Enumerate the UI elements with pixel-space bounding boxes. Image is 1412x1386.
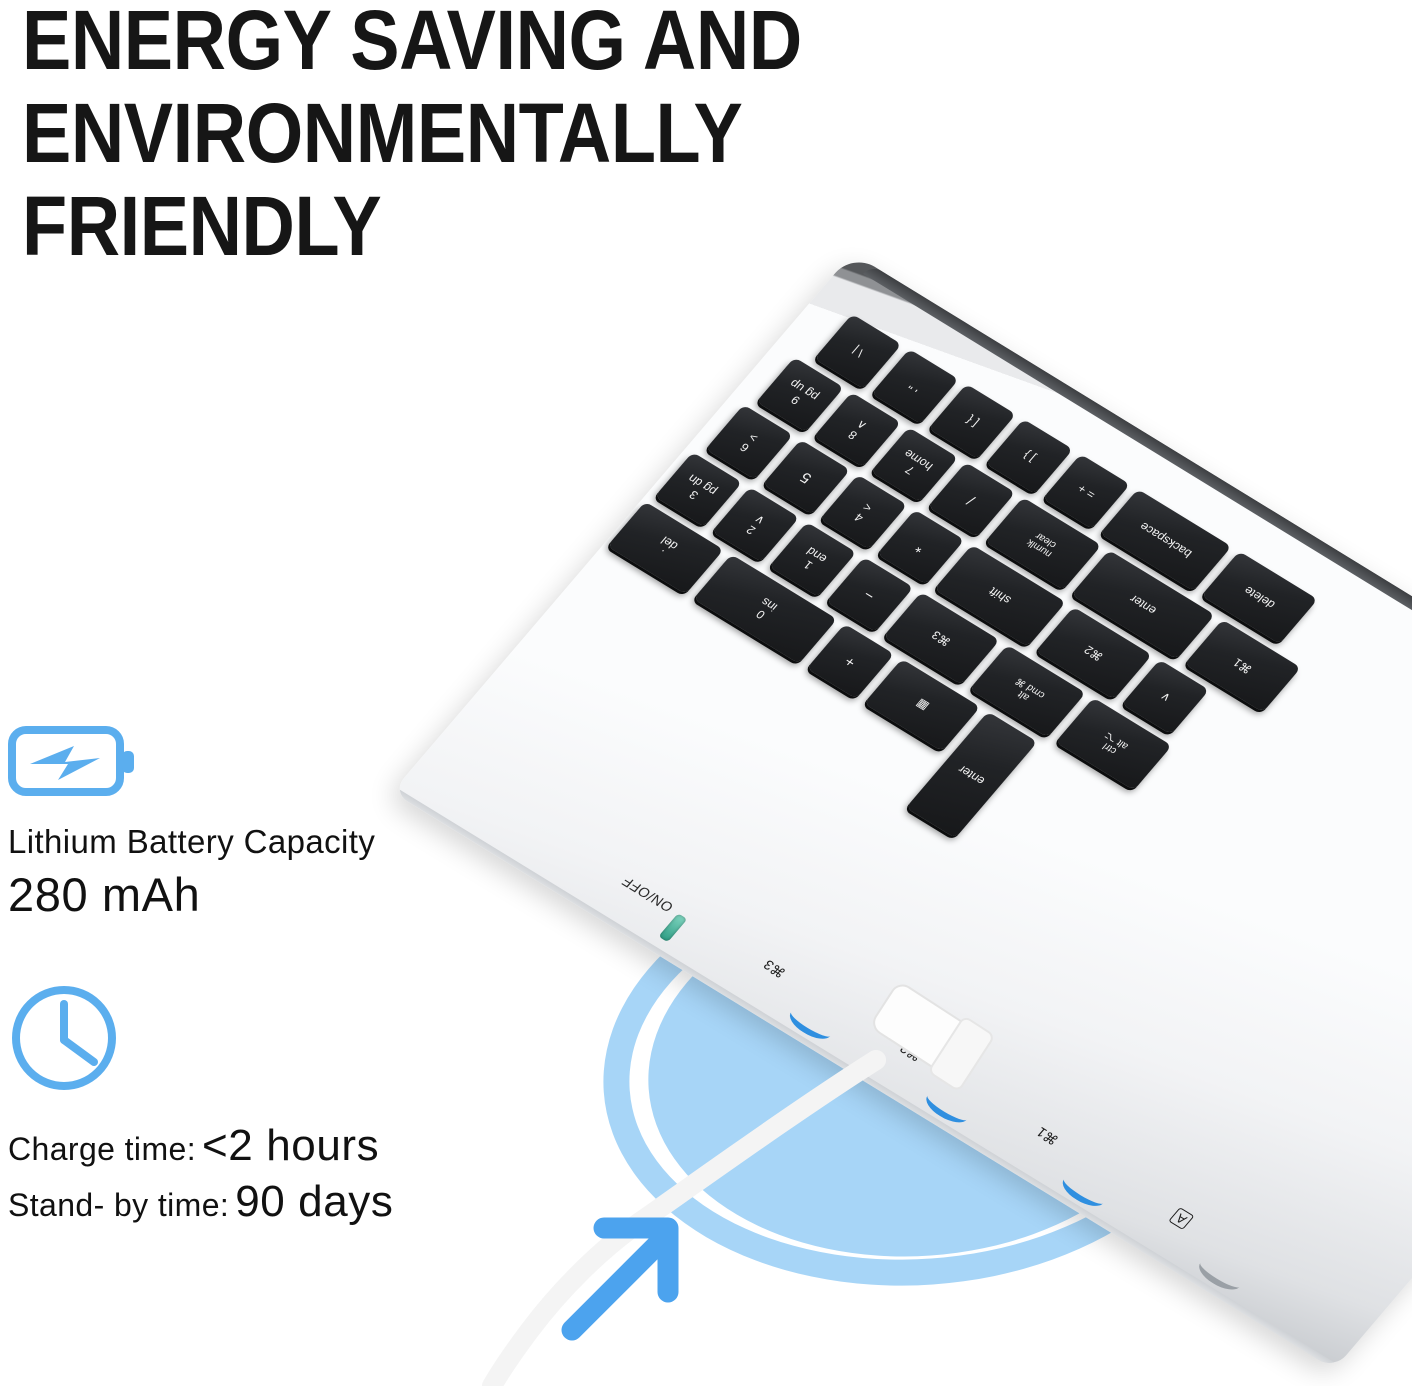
- charge-time-label: Charge time:: [8, 1131, 196, 1168]
- bt-channel-1-marking: ⌘1: [1033, 1124, 1063, 1148]
- battery-capacity-value: 280 mAh: [8, 867, 375, 922]
- battery-capacity-label: Lithium Battery Capacity: [8, 823, 375, 861]
- bt-channel-2-marking: ⌘2: [896, 1040, 926, 1064]
- power-switch-label: ON/OFF: [618, 874, 676, 916]
- bt-channel-3-marking: ⌘3: [760, 956, 790, 980]
- charge-time-value: <2 hours: [202, 1121, 379, 1171]
- standby-time-label: Stand- by time:: [8, 1187, 229, 1224]
- power-switch-nub[interactable]: [658, 913, 687, 942]
- charge-time-row: Charge time: <2 hours: [8, 1121, 394, 1171]
- charging-port-arrow-icon: [556, 1196, 706, 1346]
- product-feature-image: ENERGY SAVING AND ENVIRONMENTALLY FRIEND…: [0, 0, 1412, 1386]
- clock-icon: [8, 982, 394, 1105]
- standby-time-value: 90 days: [235, 1177, 393, 1227]
- battery-charging-icon: [8, 724, 375, 805]
- feature-battery-capacity: Lithium Battery Capacity 280 mAh: [8, 724, 375, 922]
- caps-lock-indicator-icon: A: [1168, 1207, 1194, 1230]
- feature-charge-standby-time: Charge time: <2 hours Stand- by time: 90…: [8, 982, 394, 1227]
- standby-time-row: Stand- by time: 90 days: [8, 1177, 394, 1227]
